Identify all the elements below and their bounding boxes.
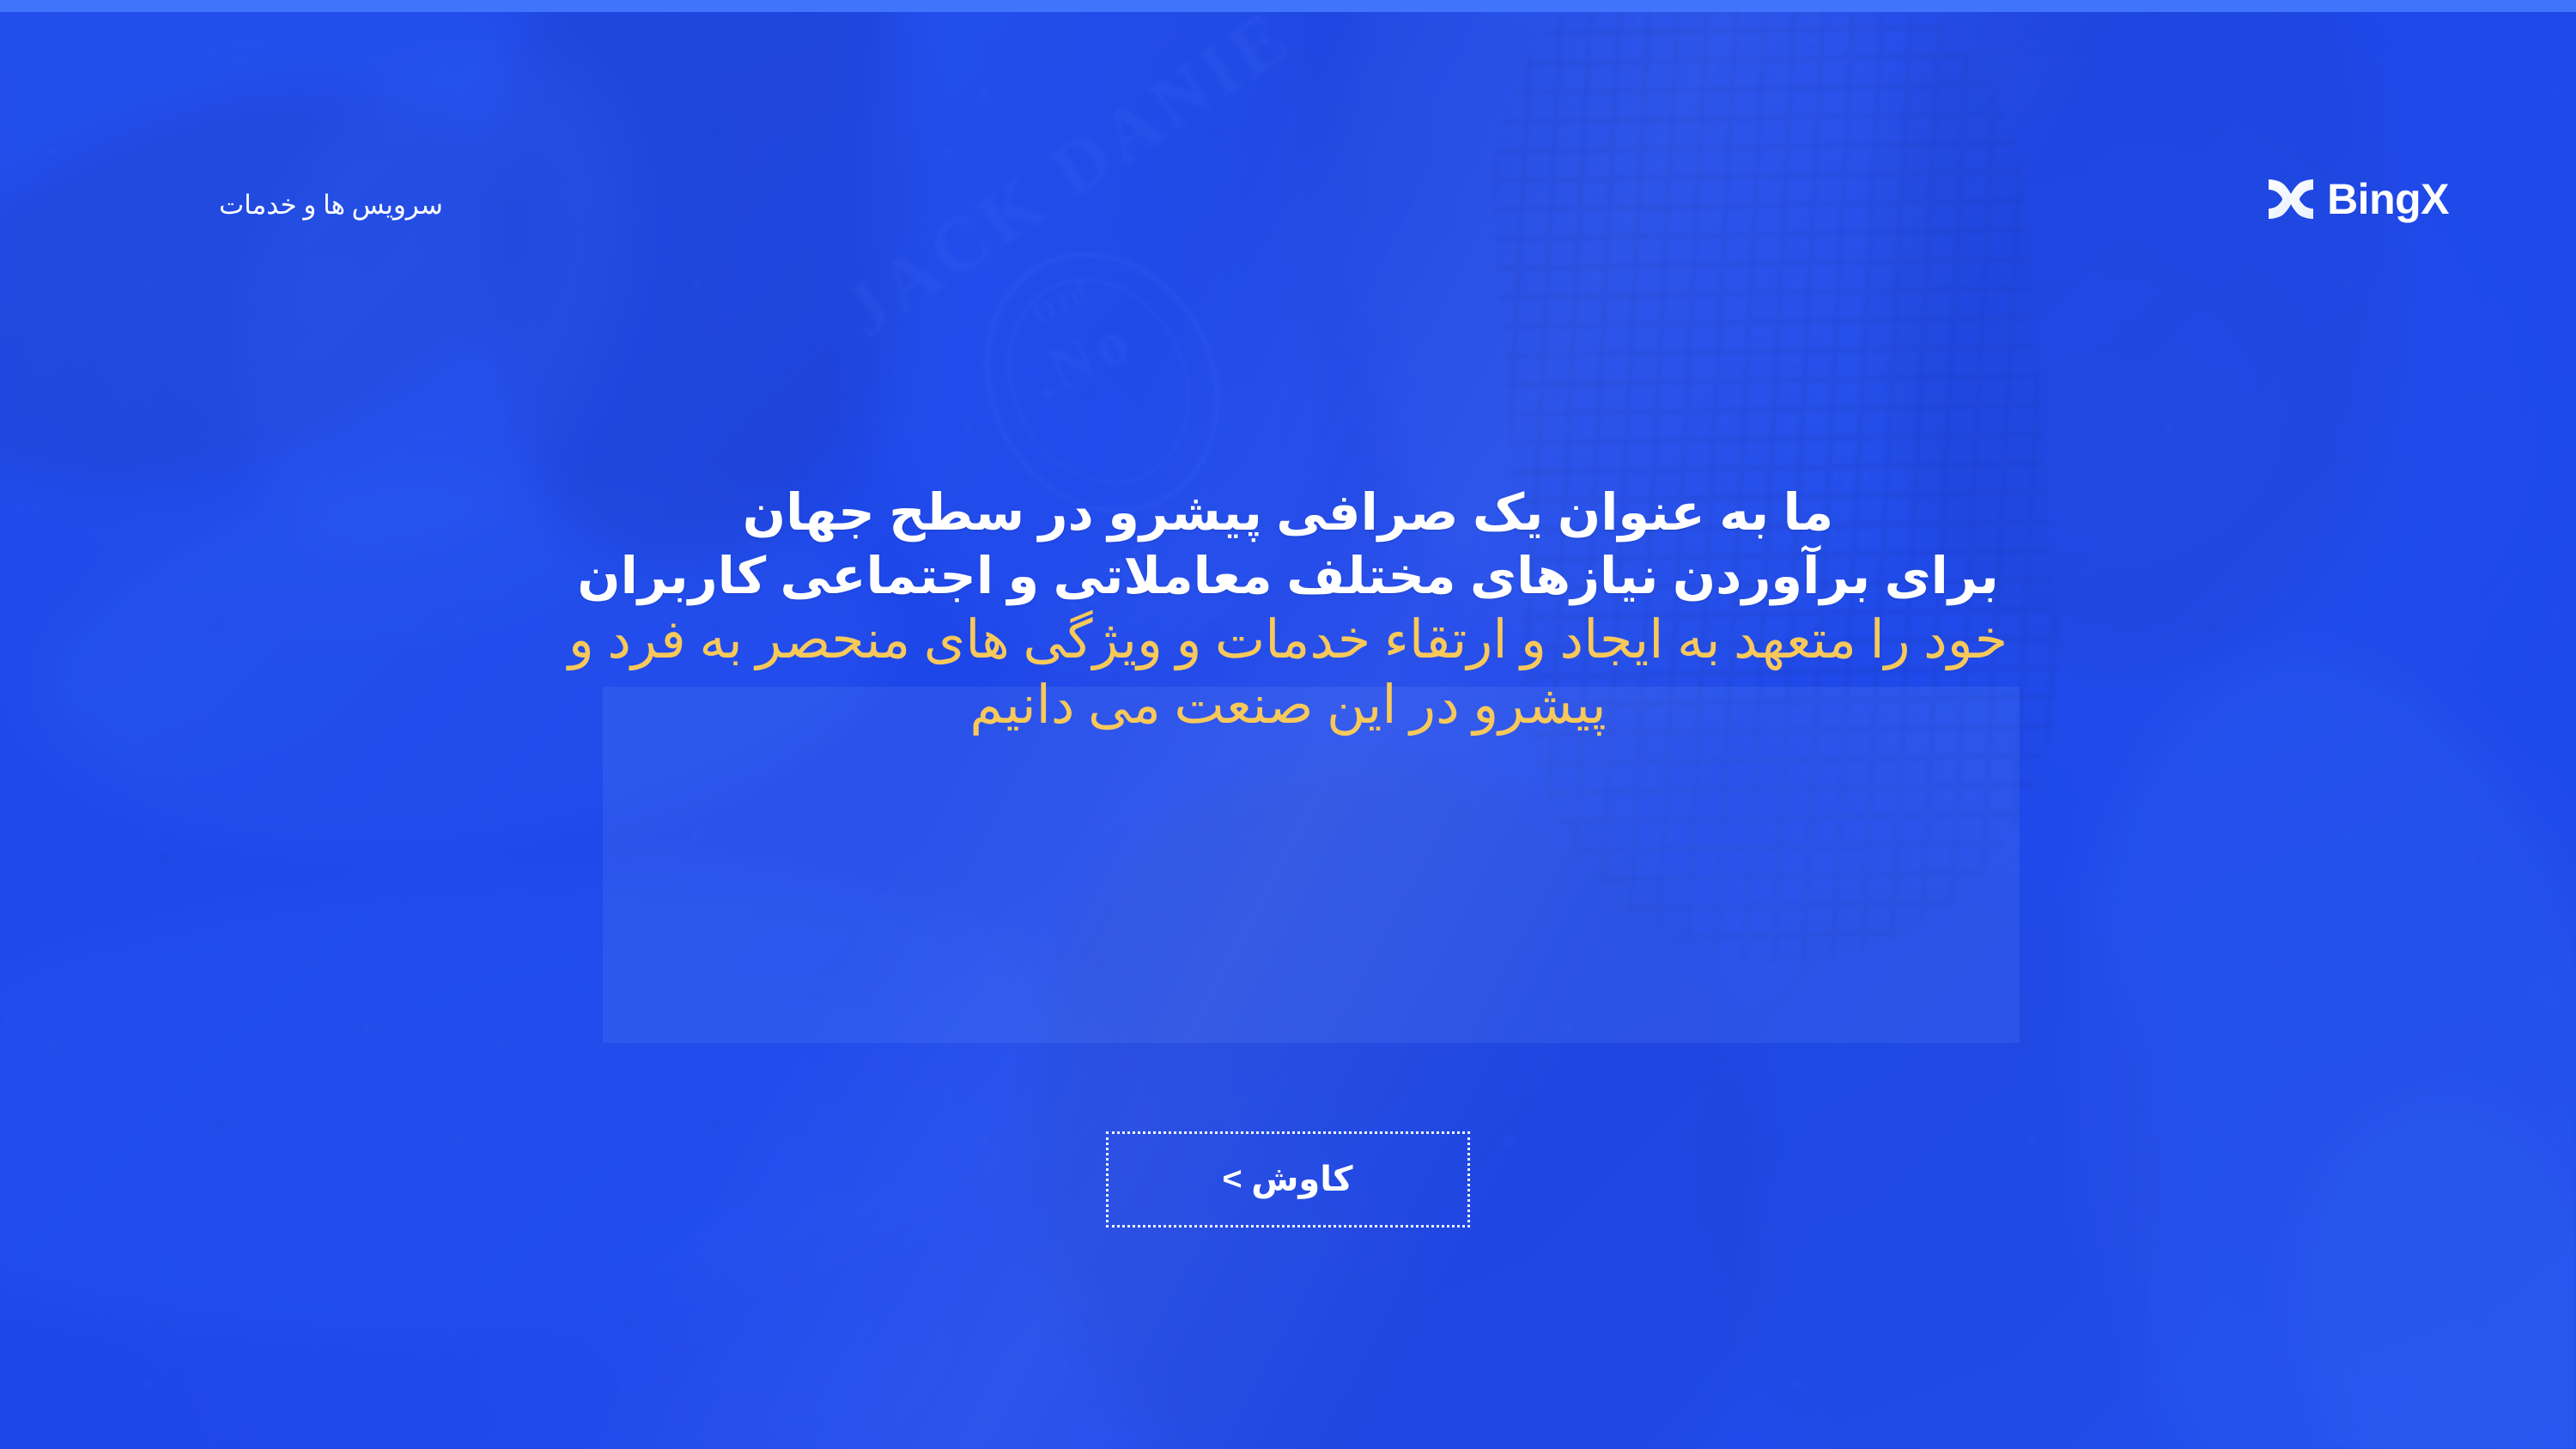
headline-line-1: ما به عنوان یک صرافی پیشرو در سطح جهان [120,481,2456,544]
explore-button-label: کاوش [1251,1160,1352,1199]
chevron-right-icon: > [1223,1163,1243,1196]
sidebar-item-services-and-offerings[interactable]: سرویس ها و خدمات [219,187,443,223]
top-bar: سرویس ها و خدمات BingX [0,0,2576,258]
explore-button[interactable]: کاوش > [1106,1131,1470,1228]
headline-line-4: پیشرو در این صنعت می دانیم [120,673,2456,738]
hero-headline: ما به عنوان یک صرافی پیشرو در سطح جهان ب… [0,481,2576,738]
logo-wordmark: BingX [2327,178,2449,221]
cta-container: کاوش > [0,1131,2576,1228]
bingx-logo[interactable]: BingX [2267,176,2449,222]
headline-line-3: خود را متعهد به ایجاد و ارتقاء خدمات و و… [120,608,2456,673]
headline-line-2: برای برآوردن نیازهای مختلف معاملاتی و اج… [120,544,2456,608]
hero-banner: JACK DANIE Old No. Tenn سرویس ها و خدمات [0,0,2576,1449]
hero-content: سرویس ها و خدمات BingX ما به عنوان یک صر… [0,0,2576,1449]
bingx-x-mark-icon [2267,176,2315,222]
